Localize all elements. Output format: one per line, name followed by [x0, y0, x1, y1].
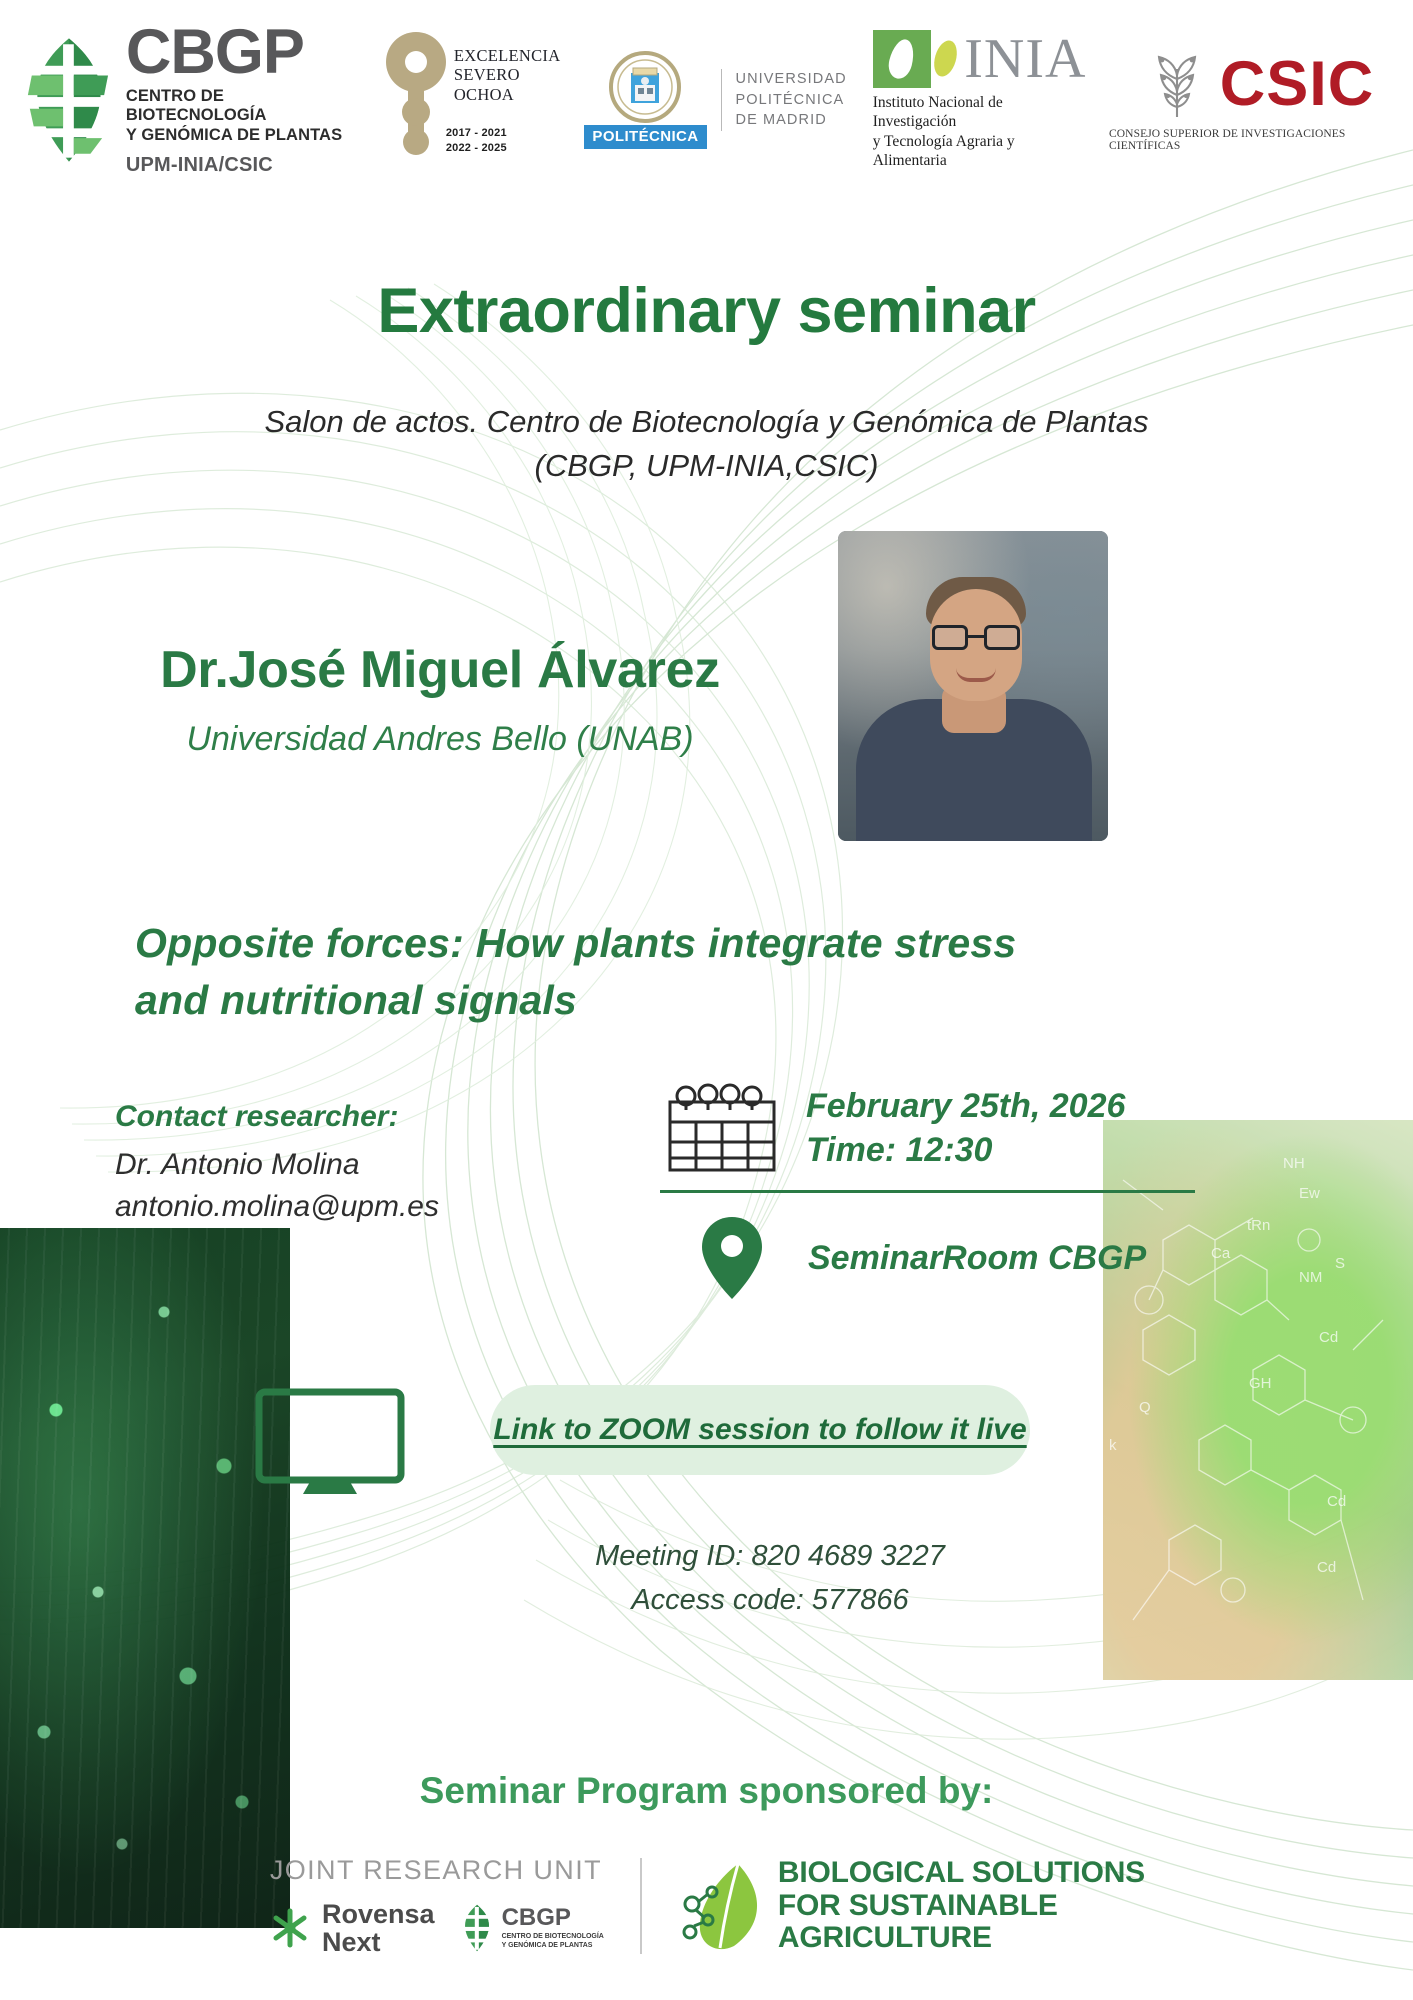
seminar-time: Time: 12:30	[806, 1128, 1125, 1172]
sponsor-row: JOINT RESEARCH UNIT Rovensa Next	[0, 1855, 1413, 1957]
venue-line1: Salon de actos. Centro de Biotecnología …	[120, 400, 1293, 444]
mini-cbgp-leaf-icon	[459, 1904, 495, 1952]
speaker-photo	[838, 531, 1108, 841]
mini-cbgp-sub1: CENTRO DE BIOTECNOLOGÍA	[502, 1933, 604, 1941]
meeting-id: Meeting ID: 820 4689 3227	[430, 1535, 1110, 1579]
rovensa-next-logo: Rovensa Next	[268, 1900, 435, 1957]
mini-cbgp-sub2: Y GENÓMICA DE PLANTAS	[502, 1942, 604, 1950]
sponsor-divider	[640, 1858, 642, 1954]
seminar-location: SeminarRoom CBGP	[808, 1239, 1146, 1278]
bssa-line2: FOR SUSTAINABLE	[778, 1890, 1145, 1922]
seminar-date: February 25th, 2026	[806, 1084, 1125, 1128]
date-block: February 25th, 2026 Time: 12:30	[660, 1080, 1220, 1193]
date-divider	[660, 1190, 1195, 1193]
zoom-link-label[interactable]: Link to ZOOM session to follow it live	[493, 1413, 1026, 1447]
calendar-icon	[660, 1080, 784, 1176]
contact-block: Contact researcher: Dr. Antonio Molina a…	[115, 1100, 535, 1228]
location-pin-icon	[700, 1215, 764, 1301]
rovensa-mark-icon	[268, 1906, 312, 1950]
meeting-details: Meeting ID: 820 4689 3227 Access code: 5…	[430, 1535, 1110, 1622]
glasses-icon	[930, 625, 1022, 651]
location-block: SeminarRoom CBGP	[700, 1215, 1146, 1301]
bssa-leaf-icon	[678, 1858, 764, 1954]
mini-cbgp-wordmark: CBGP	[502, 1906, 604, 1930]
bssa-line3: AGRICULTURE	[778, 1922, 1145, 1954]
contact-email[interactable]: antonio.molina@upm.es	[115, 1186, 535, 1228]
poster-content: Extraordinary seminar Salon de actos. Ce…	[0, 0, 1413, 2000]
monitor-icon	[255, 1388, 405, 1503]
joint-research-unit-label: JOINT RESEARCH UNIT	[270, 1855, 602, 1886]
contact-name: Dr. Antonio Molina	[115, 1144, 535, 1186]
sponsor-heading: Seminar Program sponsored by:	[0, 1770, 1413, 1812]
access-code: Access code: 577866	[430, 1579, 1110, 1623]
mini-cbgp-logo: CBGP CENTRO DE BIOTECNOLOGÍA Y GENÓMICA …	[459, 1904, 604, 1952]
venue-line2: (CBGP, UPM-INIA,CSIC)	[120, 444, 1293, 488]
talk-title: Opposite forces: How plants integrate st…	[135, 915, 1065, 1028]
speaker-affiliation: Universidad Andres Bello (UNAB)	[60, 720, 820, 759]
rovensa-line1: Rovensa	[322, 1900, 435, 1928]
joint-research-unit-block: JOINT RESEARCH UNIT Rovensa Next	[268, 1855, 604, 1957]
contact-heading: Contact researcher:	[115, 1100, 535, 1134]
zoom-link-button[interactable]: Link to ZOOM session to follow it live	[490, 1385, 1030, 1475]
biological-solutions-logo: BIOLOGICAL SOLUTIONS FOR SUSTAINABLE AGR…	[678, 1857, 1145, 1954]
venue-block: Salon de actos. Centro de Biotecnología …	[120, 400, 1293, 488]
rovensa-line2: Next	[322, 1928, 435, 1956]
page-title: Extraordinary seminar	[0, 275, 1413, 347]
bssa-line1: BIOLOGICAL SOLUTIONS	[778, 1857, 1145, 1889]
speaker-name: Dr.José Miguel Álvarez	[60, 640, 820, 700]
